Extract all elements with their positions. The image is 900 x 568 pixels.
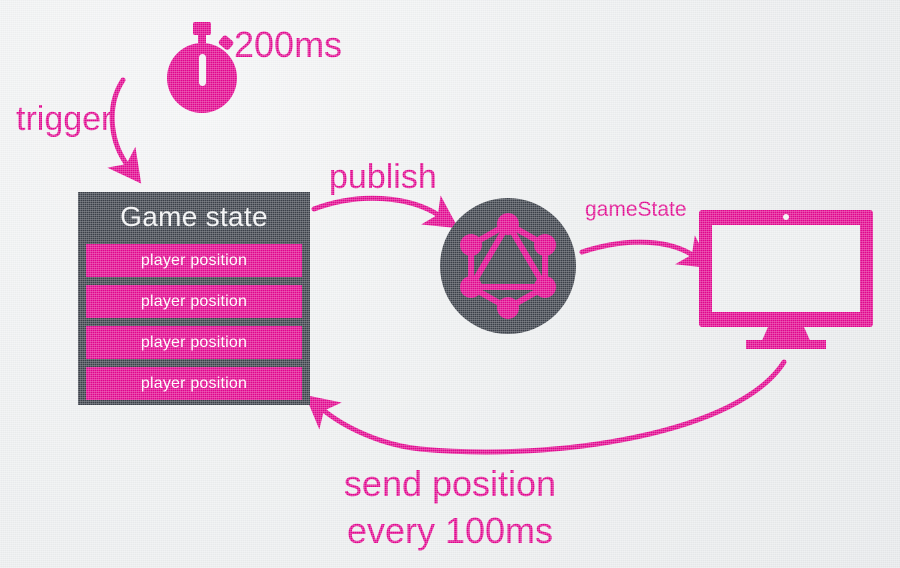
desktop-monitor-icon (698, 206, 874, 350)
edge-label-send-position-line2: every 100ms (0, 507, 900, 554)
game-state-panel: Game state player position player positi… (78, 192, 310, 405)
edge-label-publish: publish (329, 158, 437, 197)
edge-label-gamestate: gameState (585, 198, 687, 222)
arrow-send-position (322, 362, 784, 452)
graphql-logo-icon (440, 198, 576, 334)
timer-interval-label: 200ms (234, 24, 342, 66)
arrow-gamestate (582, 242, 694, 256)
edge-label-trigger: trigger (16, 100, 112, 139)
panel-title: Game state (86, 198, 302, 236)
arrow-trigger (112, 80, 128, 166)
player-position-row: player position (86, 367, 302, 400)
diagram-canvas: Game state player position player positi… (0, 0, 900, 568)
stopwatch-icon (160, 22, 244, 114)
player-position-row: player position (86, 285, 302, 318)
player-position-row: player position (86, 244, 302, 277)
player-position-row: player position (86, 326, 302, 359)
edge-label-send-position-line1: send position (0, 460, 900, 507)
arrow-publish (314, 198, 440, 216)
edge-label-send-position: send position every 100ms (0, 460, 900, 554)
